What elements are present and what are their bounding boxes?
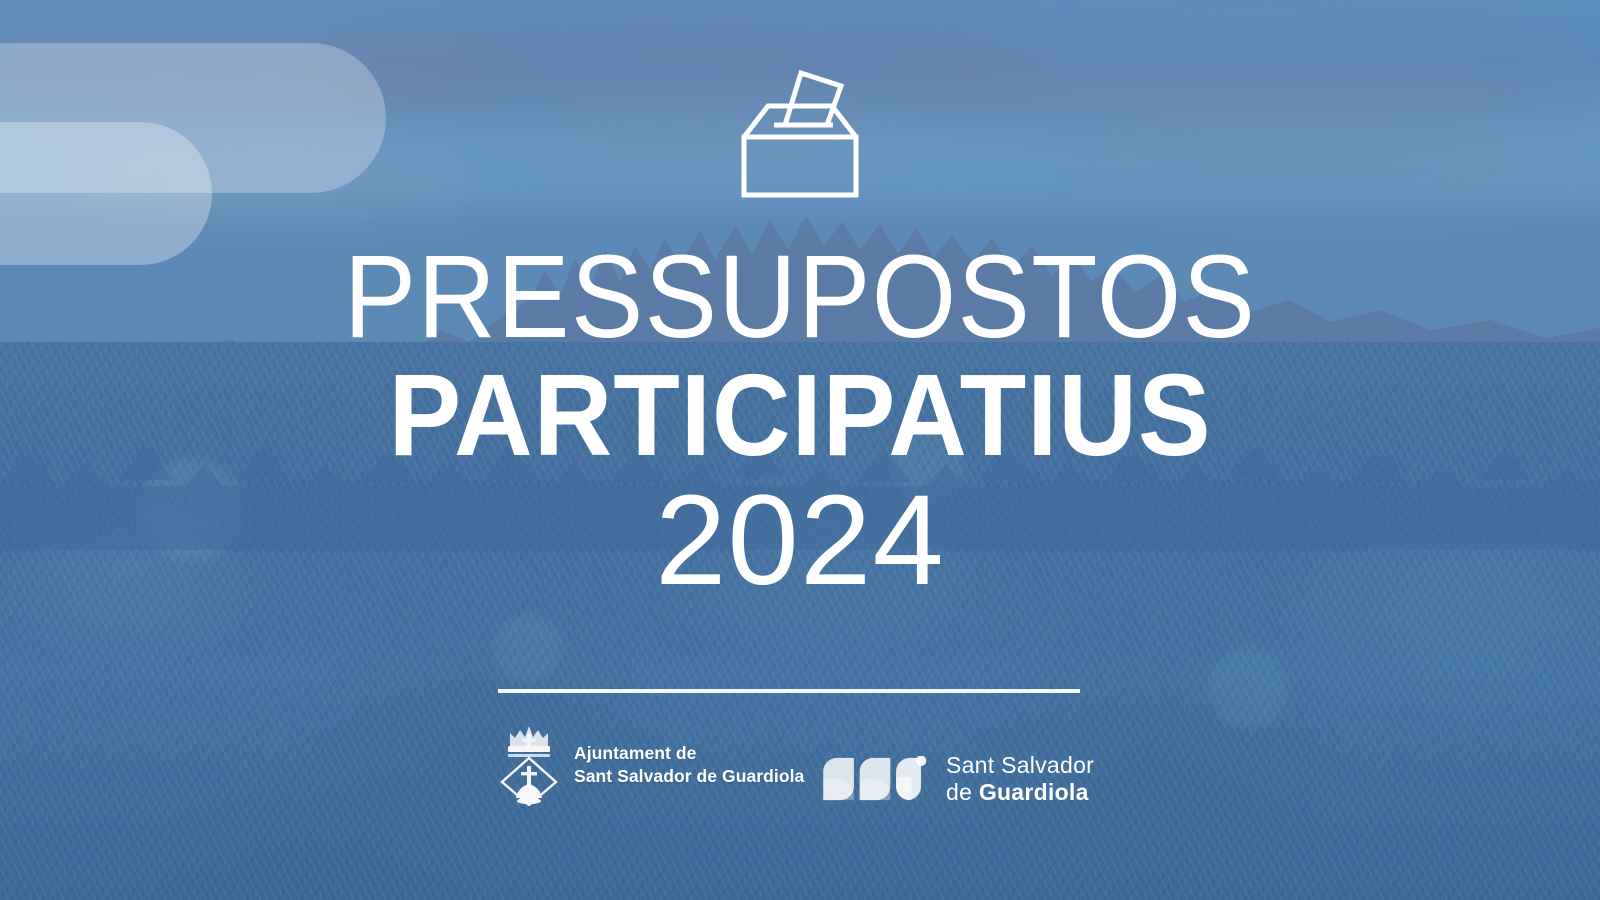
ssg-logo-text: Sant Salvador de Guardiola bbox=[946, 752, 1094, 806]
page-title-year: 2024 bbox=[0, 474, 1600, 608]
poster-canvas: PRESSUPOSTOS PARTICIPATIUS 2024 bbox=[0, 0, 1600, 900]
poster-content: PRESSUPOSTOS PARTICIPATIUS 2024 bbox=[0, 0, 1600, 900]
page-title-line2: PARTICIPATIUS bbox=[48, 356, 1552, 474]
page-title-line1: PRESSUPOSTOS bbox=[64, 240, 1536, 356]
ajuntament-line1: Ajuntament de bbox=[574, 742, 804, 765]
ssg-line2-bold: Guardiola bbox=[979, 779, 1089, 805]
ssg-line2: de Guardiola bbox=[946, 779, 1094, 806]
ssg-line2-light: de bbox=[946, 779, 979, 805]
divider-line bbox=[498, 689, 1080, 693]
ajuntament-line2: Sant Salvador de Guardiola bbox=[574, 765, 804, 788]
ssg-monogram-icon bbox=[820, 756, 930, 802]
title-block: PRESSUPOSTOS PARTICIPATIUS 2024 bbox=[0, 240, 1600, 608]
ssg-line1: Sant Salvador bbox=[946, 752, 1094, 779]
ballot-box-icon bbox=[735, 62, 865, 207]
ajuntament-logo: Ajuntament de Sant Salvador de Guardiola bbox=[498, 724, 804, 806]
ssg-logo: Sant Salvador de Guardiola bbox=[820, 752, 1094, 806]
logo-row: Ajuntament de Sant Salvador de Guardiola bbox=[0, 724, 1600, 816]
ajuntament-logo-text: Ajuntament de Sant Salvador de Guardiola bbox=[574, 742, 804, 788]
coat-of-arms-icon bbox=[498, 724, 560, 806]
